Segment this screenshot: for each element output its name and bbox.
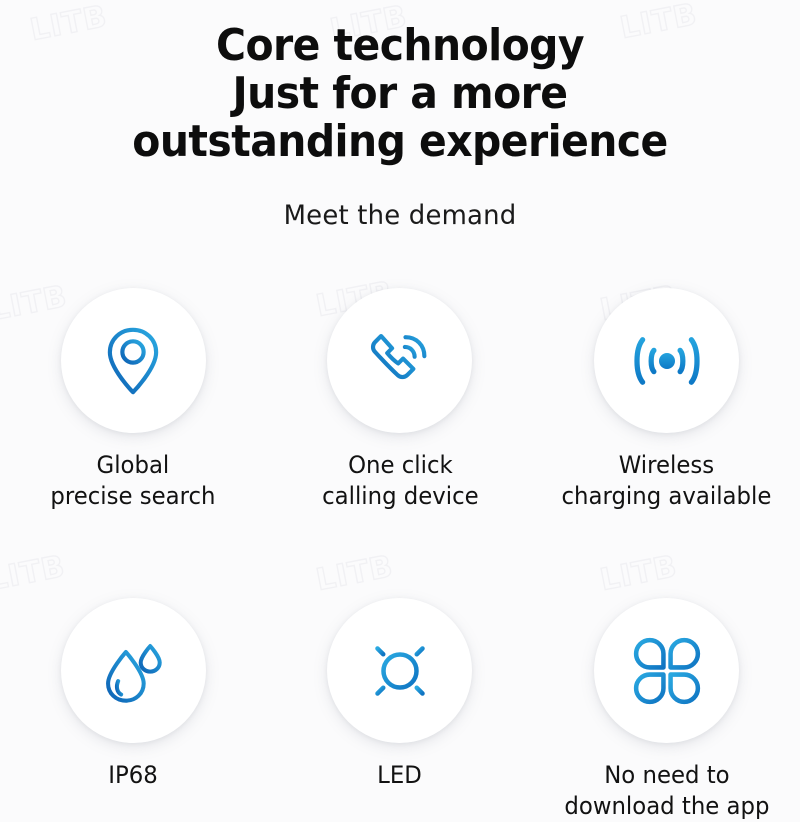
page-title: Core technology Just for a more outstand…: [28, 22, 772, 166]
sun-brightness-icon: [360, 631, 440, 711]
feature-caption: No need to download the app: [564, 760, 769, 822]
caption-line-1: Wireless: [562, 450, 772, 481]
feature-item-one-click-calling: One click calling device: [267, 288, 534, 512]
feature-caption: Global precise search: [51, 450, 216, 512]
four-petal-app-icon: [629, 633, 705, 709]
feature-item-global-precise-search: Global precise search: [0, 288, 267, 512]
feature-item-ip68: IP68: [0, 598, 267, 822]
caption-line-1: Global: [51, 450, 216, 481]
feature-item-led: LED: [267, 598, 534, 822]
feature-caption: Wireless charging available: [562, 450, 772, 512]
headline-line-3: outstanding experience: [28, 118, 772, 166]
icon-badge: [327, 598, 472, 743]
feature-item-wireless-charging: Wireless charging available: [533, 288, 800, 512]
headline-line-2: Just for a more: [28, 70, 772, 118]
phone-call-icon: [361, 322, 439, 400]
icon-badge: [61, 598, 206, 743]
caption-line-1: No need to: [564, 760, 769, 791]
feature-caption: LED: [378, 760, 423, 791]
wireless-signal-icon: [627, 321, 707, 401]
water-drop-icon: [95, 633, 171, 709]
caption-line-2: charging available: [562, 481, 772, 512]
caption-line-2: download the app: [564, 791, 769, 822]
caption-line-1: IP68: [109, 760, 158, 791]
feature-caption: One click calling device: [322, 450, 479, 512]
caption-line-2: precise search: [51, 481, 216, 512]
caption-line-1: LED: [378, 760, 423, 791]
feature-grid: Global precise search: [0, 288, 800, 822]
icon-badge: [61, 288, 206, 433]
icon-badge: [327, 288, 472, 433]
caption-line-1: One click: [322, 450, 479, 481]
caption-line-2: calling device: [322, 481, 479, 512]
page-subtitle: Meet the demand: [16, 200, 784, 231]
feature-caption: IP68: [109, 760, 158, 791]
feature-item-no-app-needed: No need to download the app: [533, 598, 800, 822]
location-pin-icon: [96, 324, 170, 398]
headline-line-1: Core technology: [28, 22, 772, 70]
icon-badge: [594, 598, 739, 743]
icon-badge: [594, 288, 739, 433]
